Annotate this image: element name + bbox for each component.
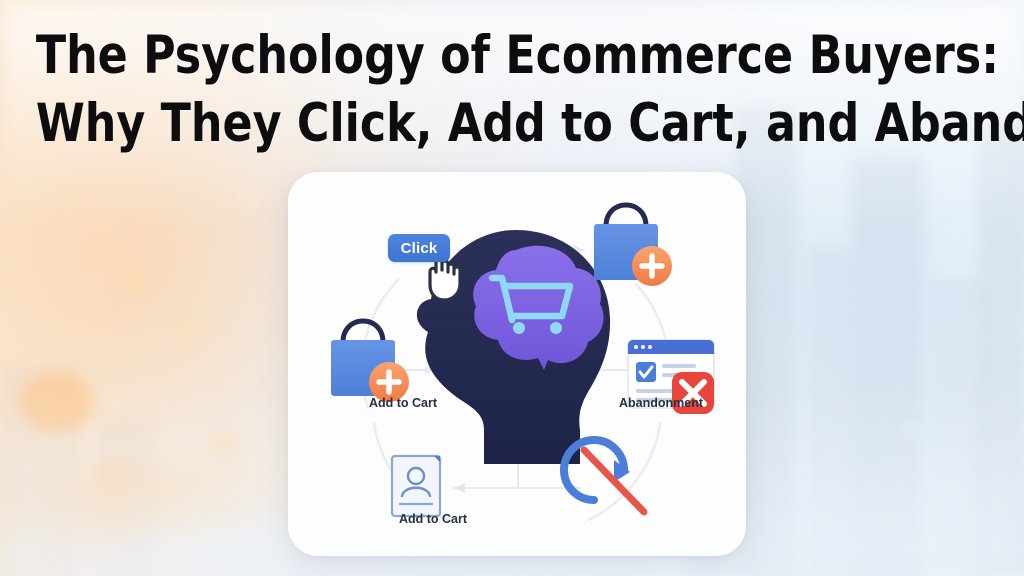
bokeh-light [790, 300, 816, 322]
title-line-1: The Psychology of Ecommerce Buyers: [36, 22, 988, 90]
label-add-to-cart-bottom: Add to Cart [318, 512, 548, 526]
click-button[interactable]: Click [388, 234, 450, 262]
shopping-bag-plus-icon-top-right [594, 205, 672, 286]
shopping-bag-plus-icon-left [331, 321, 409, 402]
bokeh-light [176, 318, 202, 340]
label-abandonment: Abandonment [546, 396, 776, 410]
refresh-blocked-icon [564, 440, 644, 512]
cart-wheel [513, 322, 525, 334]
title-line-2: Why They Click, Add to Cart, and Abandon [36, 90, 988, 158]
illustration-card: Click Add to Cart Abandonment Add to Car… [288, 172, 746, 556]
bokeh-light [118, 268, 148, 294]
label-add-to-cart-left: Add to Cart [288, 396, 518, 410]
profile-card-icon [392, 456, 440, 516]
click-button-label: Click [401, 240, 438, 257]
cart-wheel [550, 322, 562, 334]
page-title: The Psychology of Ecommerce Buyers: Why … [0, 22, 1024, 158]
buyer-journey-diagram [288, 172, 746, 556]
